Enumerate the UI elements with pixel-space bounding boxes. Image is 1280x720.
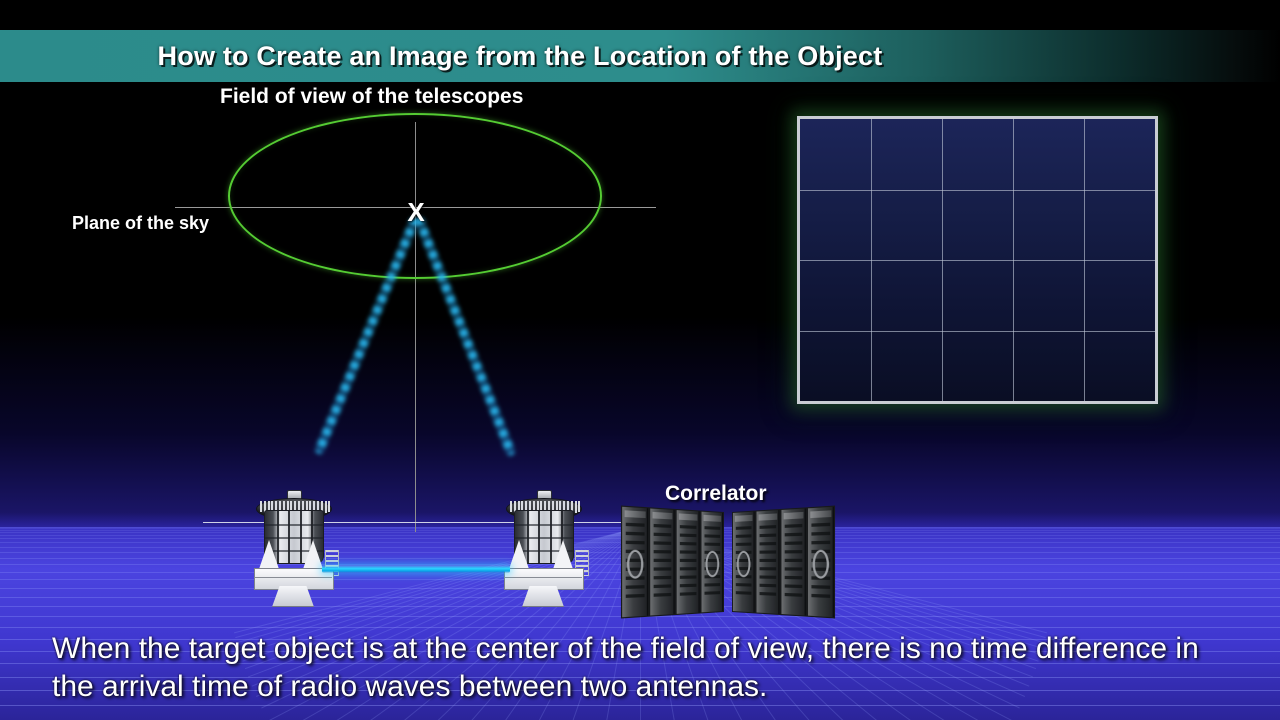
correlator-rack-slot bbox=[626, 532, 645, 536]
correlator-rack bbox=[649, 507, 675, 616]
image-output-grid-panel bbox=[797, 116, 1158, 404]
radio-antenna-right bbox=[500, 488, 586, 606]
correlator-rack-seam bbox=[647, 508, 648, 615]
correlator-rack-seam bbox=[778, 510, 779, 614]
correlator-rack-slot bbox=[736, 526, 752, 530]
correlator-rack-slot bbox=[811, 523, 830, 527]
correlator-rack-seam bbox=[698, 511, 699, 612]
correlator-rack-slot bbox=[736, 534, 752, 538]
correlator-rack-slot bbox=[811, 541, 830, 545]
correlator-rack-slot bbox=[811, 585, 830, 589]
correlator-rack-door-handle bbox=[706, 551, 720, 578]
correlator-rack-slot bbox=[680, 550, 697, 553]
correlator-rack-slot bbox=[785, 550, 803, 553]
correlator-rack-slot bbox=[760, 567, 777, 570]
correlator-rack-slot bbox=[705, 526, 721, 530]
correlator-rack-slot bbox=[680, 592, 697, 596]
plane-of-sky-label: Plane of the sky bbox=[72, 213, 209, 234]
page-title: How to Create an Image from the Location… bbox=[0, 31, 1280, 81]
correlator-rack-slot bbox=[785, 576, 803, 580]
correlator-rack-seam bbox=[805, 508, 806, 615]
correlator-rack-top-panel bbox=[759, 513, 778, 520]
antenna-dish-band bbox=[265, 537, 323, 539]
correlator-rack-slot bbox=[785, 584, 803, 588]
panel-gridline-horizontal bbox=[800, 260, 1155, 261]
correlator-rack-slot bbox=[785, 567, 803, 570]
correlator-rack-slot bbox=[654, 593, 672, 597]
correlator-rack-slot bbox=[654, 559, 672, 562]
correlator-rack-top-panel bbox=[704, 515, 722, 522]
correlator-rack bbox=[621, 506, 649, 619]
correlator-rack-slot bbox=[654, 541, 672, 545]
correlator-rack-slot bbox=[760, 575, 777, 578]
correlator-rack-seam bbox=[753, 512, 754, 613]
target-object-marker: X bbox=[401, 196, 431, 228]
correlator-rack-slot bbox=[626, 585, 645, 589]
correlator-rack-seam bbox=[722, 513, 723, 611]
correlator-rack-slot bbox=[680, 542, 697, 545]
correlator-rack-slot bbox=[626, 541, 645, 545]
correlator-rack bbox=[755, 509, 780, 615]
slide-stage: How to Create an Image from the Location… bbox=[0, 0, 1280, 720]
correlator-rack-slot bbox=[626, 523, 645, 527]
correlator-rack-slot bbox=[680, 559, 697, 562]
correlator-rack bbox=[701, 511, 724, 614]
correlator-rack-bank-right bbox=[732, 506, 835, 619]
antenna-deck-seam bbox=[504, 577, 582, 578]
correlator-rack-slot bbox=[654, 567, 672, 570]
correlator-rack-slot bbox=[736, 543, 752, 546]
correlator-rack-slot bbox=[785, 559, 803, 562]
antenna-ring-tick bbox=[260, 501, 262, 512]
correlator-rack-slot bbox=[680, 584, 697, 588]
correlator-rack-top-panel bbox=[653, 512, 673, 520]
correlator-label: Correlator bbox=[665, 482, 767, 506]
correlator-rack-slot bbox=[654, 576, 672, 580]
correlator-rack-door-handle bbox=[813, 550, 829, 579]
correlator-rack-slot bbox=[785, 533, 803, 537]
correlator-rack-slot bbox=[736, 591, 752, 595]
antenna-ring-tick bbox=[510, 501, 512, 512]
correlator-rack-slot bbox=[654, 533, 672, 537]
antenna-dish-band bbox=[515, 537, 573, 539]
correlator-rack-top-panel bbox=[735, 515, 753, 522]
correlator-rack-slot bbox=[626, 594, 645, 598]
correlator-rack-top-panel bbox=[679, 513, 698, 520]
antenna-ring-tick bbox=[578, 501, 580, 512]
correlator-rack-slot bbox=[680, 567, 697, 570]
panel-gridline-horizontal bbox=[800, 190, 1155, 191]
radio-antenna-left bbox=[250, 488, 336, 606]
correlator-rack-slot bbox=[705, 591, 721, 595]
antenna-dish-band bbox=[515, 524, 573, 526]
correlator-rack-slot bbox=[705, 543, 721, 546]
correlator-rack-seam bbox=[673, 510, 674, 614]
correlator-rack-bank-left bbox=[621, 506, 724, 619]
slide-caption: When the target object is at the center … bbox=[52, 630, 1242, 706]
correlator-rack-top-panel bbox=[810, 510, 831, 518]
correlator-rack bbox=[676, 509, 701, 615]
antenna-ring-tick bbox=[575, 501, 577, 513]
correlator-rack bbox=[780, 507, 806, 616]
correlator-hardware bbox=[628, 512, 828, 612]
correlator-rack-slot bbox=[736, 583, 752, 586]
antenna-baseline-signal bbox=[322, 565, 510, 573]
correlator-rack-slot bbox=[680, 525, 697, 529]
correlator-rack-door-handle bbox=[737, 551, 751, 578]
correlator-rack-slot bbox=[680, 575, 697, 578]
correlator-rack-slot bbox=[760, 550, 777, 553]
correlator-rack-slot bbox=[785, 593, 803, 597]
antenna-dish-band bbox=[265, 524, 323, 526]
field-of-view-label: Field of view of the telescopes bbox=[220, 85, 523, 109]
panel-gridline-horizontal bbox=[800, 331, 1155, 332]
correlator-rack-slot bbox=[705, 534, 721, 538]
correlator-rack-top-panel bbox=[625, 510, 646, 518]
correlator-rack-slot bbox=[654, 524, 672, 528]
correlator-rack-slot bbox=[785, 524, 803, 528]
correlator-rack-door-handle bbox=[627, 550, 643, 579]
antenna-ring-tick bbox=[328, 501, 330, 512]
correlator-rack-slot bbox=[705, 583, 721, 586]
correlator-rack-slot bbox=[760, 559, 777, 562]
correlator-rack-slot bbox=[811, 594, 830, 598]
correlator-rack bbox=[732, 511, 755, 614]
correlator-rack-slot bbox=[760, 542, 777, 545]
correlator-rack bbox=[807, 506, 835, 619]
correlator-rack-slot bbox=[760, 525, 777, 529]
correlator-rack-slot bbox=[811, 532, 830, 536]
correlator-rack-seam bbox=[833, 507, 834, 617]
antenna-ring-tick bbox=[325, 501, 327, 513]
correlator-rack-slot bbox=[760, 534, 777, 538]
antenna-deck-seam bbox=[254, 577, 332, 578]
correlator-rack-slot bbox=[785, 541, 803, 545]
correlator-rack-top-panel bbox=[784, 512, 804, 520]
correlator-rack-slot bbox=[680, 534, 697, 538]
correlator-rack-slot bbox=[654, 550, 672, 553]
correlator-rack-slot bbox=[760, 592, 777, 596]
correlator-rack-slot bbox=[760, 584, 777, 588]
correlator-rack-slot bbox=[654, 584, 672, 588]
